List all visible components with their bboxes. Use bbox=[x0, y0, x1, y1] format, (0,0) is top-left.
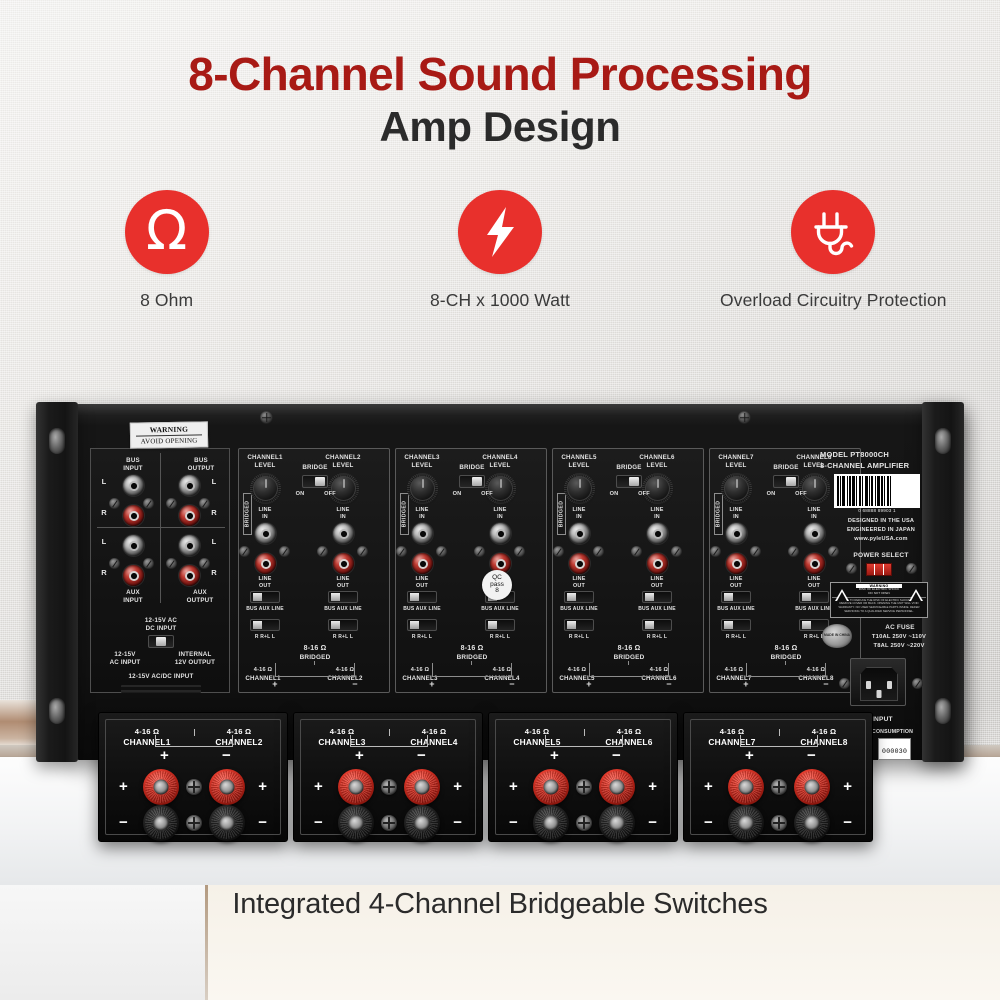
bridge-switch-3[interactable] bbox=[616, 475, 642, 488]
power-select-label: POWER SELECT bbox=[828, 552, 934, 560]
feature-label-8-ohm: 8 Ohm bbox=[140, 290, 193, 312]
line-out-jack-6[interactable] bbox=[647, 553, 668, 574]
bridge-switch-4[interactable] bbox=[773, 475, 799, 488]
caption-text: Integrated 4-Channel Bridgeable Switches bbox=[232, 888, 767, 920]
binding-post-negative-right-1[interactable] bbox=[209, 805, 245, 841]
line-out-label-7: LINE OUT bbox=[720, 576, 752, 589]
speaker-terminal-block-4: 4-16 ΩCHANNEL74-16 ΩCHANNEL8+−++−− bbox=[683, 712, 873, 842]
binding-post-positive-right-3[interactable] bbox=[599, 769, 635, 805]
lightning-bolt-icon bbox=[458, 190, 542, 274]
speaker-terminal-block-2: 4-16 ΩCHANNEL34-16 ΩCHANNEL4+−++−− bbox=[293, 712, 483, 842]
feature-item-power: 8-CH x 1000 Watt bbox=[333, 190, 666, 312]
line-in-jack-6[interactable] bbox=[647, 523, 668, 544]
binding-post-negative-left-3[interactable] bbox=[533, 805, 569, 841]
module-screw-6b bbox=[671, 546, 682, 557]
bridged-label-1: BRIDGED bbox=[285, 654, 345, 662]
binding-post-negative-right-2[interactable] bbox=[404, 805, 440, 841]
source-select-switch-1[interactable] bbox=[250, 591, 280, 603]
line-out-jack-7[interactable] bbox=[726, 553, 747, 574]
terminal-row-minus-right-2: − bbox=[453, 815, 462, 830]
feature-list: Ω 8 Ohm 8-CH x 1000 Watt Overload Circu bbox=[0, 190, 1000, 312]
bridge-switch-1[interactable] bbox=[302, 475, 328, 488]
dc-input-title: 12-15V AC DC INPUT bbox=[129, 617, 193, 632]
aux-output-right-label: R bbox=[209, 568, 219, 577]
line-in-jack-1[interactable] bbox=[255, 523, 276, 544]
serial-number: 000030 bbox=[882, 748, 907, 755]
terminal-screw-top-4 bbox=[771, 779, 787, 795]
warning-triangle-right-icon bbox=[909, 589, 923, 601]
mode-select-label-6: R R+L L bbox=[627, 634, 687, 640]
iec-pin-right bbox=[887, 681, 892, 689]
bridge-off-label-4: OFF bbox=[790, 491, 812, 498]
io-divider-horizontal bbox=[97, 527, 225, 528]
terminal-row-minus-right-4: − bbox=[843, 815, 852, 830]
origin-line-2: ENGINEERED IN JAPAN bbox=[826, 527, 936, 534]
origin-line-1: DESIGNED IN THE USA bbox=[826, 518, 936, 525]
line-in-jack-7[interactable] bbox=[726, 523, 747, 544]
channel-name-3: CHANNEL3 bbox=[394, 454, 450, 462]
bridge-plus-3: + bbox=[579, 679, 599, 690]
terminal-row-minus-2: − bbox=[314, 815, 323, 830]
line-out-label-3: LINE OUT bbox=[406, 576, 438, 589]
bridge-label-1: BRIDGE bbox=[285, 464, 345, 472]
iec-inlet-recess bbox=[860, 667, 898, 701]
channel-name-2: CHANNEL2 bbox=[315, 454, 371, 462]
mode-select-switch-2[interactable] bbox=[328, 619, 358, 631]
speaker-terminal-block-1: 4-16 ΩCHANNEL14-16 ΩCHANNEL2+−++−− bbox=[98, 712, 288, 842]
rack-hole-left-top bbox=[49, 428, 65, 454]
ac-fuse-line-2: T8AL 250V ~220V bbox=[850, 643, 948, 650]
terminal-brace-2 bbox=[350, 735, 428, 747]
bridge-on-label-3: ON bbox=[603, 491, 625, 498]
bridge-switch-2[interactable] bbox=[459, 475, 485, 488]
terminal-row-plus-4: + bbox=[704, 779, 713, 794]
iec-pin-left bbox=[866, 681, 871, 689]
bridge-off-label-2: OFF bbox=[476, 491, 498, 498]
headline-line-1: 8-Channel Sound Processing bbox=[0, 50, 1000, 100]
source-select-label-2: BUS AUX LINE bbox=[313, 606, 373, 612]
bridge-label-3: BRIDGE bbox=[599, 464, 659, 472]
barcode bbox=[834, 474, 920, 508]
mode-select-label-1: R R+L L bbox=[235, 634, 295, 640]
binding-post-negative-right-4[interactable] bbox=[794, 805, 830, 841]
terminal-screw-top-1 bbox=[186, 779, 202, 795]
module-screw-2a bbox=[317, 546, 328, 557]
mode-select-switch-5[interactable] bbox=[564, 619, 594, 631]
internal-output-label: INTERNAL 12V OUTPUT bbox=[167, 651, 223, 666]
source-select-switch-7[interactable] bbox=[721, 591, 751, 603]
power-select-screw-right bbox=[906, 563, 917, 574]
module-screw-8a bbox=[788, 546, 799, 557]
bottom-caption: Integrated 4-Channel Bridgeable Switches bbox=[0, 888, 1000, 921]
module-screw-3b bbox=[436, 546, 447, 557]
vent-grille bbox=[121, 685, 201, 693]
source-select-label-3: BUS AUX LINE bbox=[392, 606, 452, 612]
channel-module-3: BRIDGEDCHANNEL5LEVELLINE INLINE OUTBUS A… bbox=[552, 448, 704, 693]
channel-name-1: CHANNEL1 bbox=[237, 454, 293, 462]
terminal-screw-top-2 bbox=[381, 779, 397, 795]
terminal-row-minus-right-3: − bbox=[648, 815, 657, 830]
bridge-off-label-3: OFF bbox=[633, 491, 655, 498]
terminal-row-plus-1: + bbox=[119, 779, 128, 794]
line-out-jack-5[interactable] bbox=[569, 553, 590, 574]
bus-input-label: BUS INPUT bbox=[113, 457, 153, 472]
bridge-plus-4: + bbox=[736, 679, 756, 690]
terminal-row-minus-1: − bbox=[119, 815, 128, 830]
bus-output-left-jack[interactable] bbox=[179, 475, 200, 496]
line-in-label-7: LINE IN bbox=[720, 507, 752, 520]
rack-hole-left-bottom bbox=[49, 698, 65, 724]
made-in-badge: MADE IN CHINA bbox=[822, 624, 852, 648]
ac-fuse-line-1: T10AL 250V ~110V bbox=[850, 634, 948, 641]
io-screw-5 bbox=[109, 558, 120, 569]
electric-shock-warning-label: WARNING RISK OF ELECTRIC SHOCK DO NOT OP… bbox=[830, 582, 928, 618]
binding-post-positive-right-4[interactable] bbox=[794, 769, 830, 805]
acdc-input-label: 12-15V AC/DC INPUT bbox=[113, 673, 209, 681]
bridge-on-label-2: ON bbox=[446, 491, 468, 498]
channel-name-4: CHANNEL4 bbox=[472, 454, 528, 462]
module-screw-7b bbox=[750, 546, 761, 557]
terminal-row-plus-2: + bbox=[314, 779, 323, 794]
binding-post-positive-left-3[interactable] bbox=[533, 769, 569, 805]
mode-select-switch-7[interactable] bbox=[721, 619, 751, 631]
level-knob-5[interactable] bbox=[567, 476, 592, 501]
mode-select-label-4: R R+L L bbox=[470, 634, 530, 640]
source-select-label-7: BUS AUX LINE bbox=[706, 606, 766, 612]
binding-post-positive-left-4[interactable] bbox=[728, 769, 764, 805]
aux-output-left-label: L bbox=[209, 537, 219, 546]
terminal-bridge-minus-3: − bbox=[612, 748, 621, 763]
binding-post-positive-left-2[interactable] bbox=[338, 769, 374, 805]
io-divider-vertical bbox=[160, 453, 161, 603]
bus-output-label: BUS OUTPUT bbox=[179, 457, 223, 472]
module-screw-6a bbox=[631, 546, 642, 557]
aux-input-left-label: L bbox=[99, 537, 109, 546]
binding-post-negative-left-2[interactable] bbox=[338, 805, 374, 841]
amp-top-lip bbox=[76, 404, 964, 416]
bus-input-right-jack[interactable] bbox=[123, 505, 144, 526]
power-plug-icon bbox=[791, 190, 875, 274]
aux-output-label: AUX OUTPUT bbox=[177, 589, 223, 604]
terminal-brace-4 bbox=[740, 735, 818, 747]
mode-select-label-7: R R+L L bbox=[706, 634, 766, 640]
amplifier-rear-panel: BUS INPUT L R BUS OUTPUT L R L R AUX INP… bbox=[36, 404, 964, 772]
iec-screw-right bbox=[912, 678, 923, 689]
bridged-impedance-1: 8-16 Ω bbox=[285, 645, 345, 654]
model-line-2: 8-CHANNEL AMPLIFIER bbox=[820, 461, 944, 470]
bridged-impedance-3: 8-16 Ω bbox=[599, 645, 659, 654]
line-in-label-5: LINE IN bbox=[563, 507, 595, 520]
input-label: INPUT bbox=[872, 716, 932, 724]
bridged-label-4: BRIDGED bbox=[756, 654, 816, 662]
binding-post-negative-left-1[interactable] bbox=[143, 805, 179, 841]
terminal-screw-bottom-1 bbox=[186, 815, 202, 831]
speaker-terminal-block-3: 4-16 ΩCHANNEL54-16 ΩCHANNEL6+−++−− bbox=[488, 712, 678, 842]
bridge-on-label-1: ON bbox=[289, 491, 311, 498]
serial-number-box: 000030 bbox=[878, 738, 911, 760]
bus-output-left-label: L bbox=[209, 477, 219, 486]
channel-module-2: BRIDGEDCHANNEL3LEVELLINE INLINE OUTBUS A… bbox=[395, 448, 547, 693]
binding-post-negative-left-4[interactable] bbox=[728, 805, 764, 841]
terminal-bridge-plus-3: + bbox=[550, 748, 559, 763]
feature-label-power: 8-CH x 1000 Watt bbox=[430, 290, 570, 312]
bridge-minus-2: − bbox=[502, 679, 522, 690]
mode-select-switch-1[interactable] bbox=[250, 619, 280, 631]
bridge-on-label-4: ON bbox=[760, 491, 782, 498]
terminal-brace-3 bbox=[545, 735, 623, 747]
module-screw-2b bbox=[357, 546, 368, 557]
bus-output-right-jack[interactable] bbox=[179, 505, 200, 526]
mode-select-label-2: R R+L L bbox=[313, 634, 373, 640]
terminal-screw-bottom-4 bbox=[771, 815, 787, 831]
omega-glyph: Ω bbox=[146, 204, 187, 258]
bus-input-left-jack[interactable] bbox=[123, 475, 144, 496]
terminal-bridge-minus-2: − bbox=[417, 748, 426, 763]
terminal-row-minus-4: − bbox=[704, 815, 713, 830]
io-screw-6 bbox=[143, 558, 154, 569]
terminal-bridge-minus-1: − bbox=[222, 748, 231, 763]
mode-select-switch-3[interactable] bbox=[407, 619, 437, 631]
qc-line-3: 8 bbox=[495, 588, 499, 595]
bridge-brace-3 bbox=[589, 663, 669, 677]
iec-power-inlet[interactable] bbox=[850, 658, 906, 706]
mode-select-switch-4[interactable] bbox=[485, 619, 515, 631]
io-screw-3 bbox=[166, 498, 177, 509]
bridge-minus-1: − bbox=[345, 679, 365, 690]
io-screw-1 bbox=[109, 498, 120, 509]
warning-triangle-left-icon bbox=[835, 589, 849, 601]
source-select-label-6: BUS AUX LINE bbox=[627, 606, 687, 612]
terminal-bridge-plus-2: + bbox=[355, 748, 364, 763]
terminal-screw-bottom-3 bbox=[576, 815, 592, 831]
module-screw-3a bbox=[396, 546, 407, 557]
bridged-impedance-4: 8-16 Ω bbox=[756, 645, 816, 654]
source-select-switch-3[interactable] bbox=[407, 591, 437, 603]
aux-input-right-jack[interactable] bbox=[123, 565, 144, 586]
website-label: www.pyleUSA.com bbox=[826, 536, 936, 543]
channel-name-6: CHANNEL6 bbox=[629, 454, 685, 462]
bridge-plus-1: + bbox=[265, 679, 285, 690]
module-screw-4a bbox=[474, 546, 485, 557]
source-select-label-5: BUS AUX LINE bbox=[549, 606, 609, 612]
terminal-row-minus-right-1: − bbox=[258, 815, 267, 830]
bridge-off-label-1: OFF bbox=[319, 491, 341, 498]
io-screw-2 bbox=[143, 498, 154, 509]
level-knob-7[interactable] bbox=[724, 476, 749, 501]
line-in-label-3: LINE IN bbox=[406, 507, 438, 520]
iec-screw-left bbox=[839, 678, 850, 689]
headline-line-2: Amp Design bbox=[0, 103, 1000, 151]
terminal-screw-bottom-2 bbox=[381, 815, 397, 831]
power-select-screw-left bbox=[846, 563, 857, 574]
terminal-row-minus-3: − bbox=[509, 815, 518, 830]
module-screw-4b bbox=[514, 546, 525, 557]
terminal-bridge-plus-4: + bbox=[745, 748, 754, 763]
model-line-1: MODEL PT8000CH bbox=[820, 450, 940, 459]
line-in-label-4: LINE IN bbox=[484, 507, 516, 520]
module-screw-7a bbox=[710, 546, 721, 557]
mode-select-label-5: R R+L L bbox=[549, 634, 609, 640]
feature-item-8-ohm: Ω 8 Ohm bbox=[0, 190, 333, 312]
binding-post-negative-right-3[interactable] bbox=[599, 805, 635, 841]
qc-pass-sticker: QC pass 8 bbox=[482, 570, 512, 600]
product-info-block: MODEL PT8000CH 8-CHANNEL AMPLIFIER 0 688… bbox=[820, 448, 950, 748]
made-in-text: MADE IN CHINA bbox=[824, 634, 850, 638]
line-out-jack-2[interactable] bbox=[333, 553, 354, 574]
line-in-label-6: LINE IN bbox=[641, 507, 673, 520]
module-screw-5b bbox=[593, 546, 604, 557]
line-out-label-1: LINE OUT bbox=[249, 576, 281, 589]
channel-name-7: CHANNEL7 bbox=[708, 454, 764, 462]
terminal-row-plus-right-1: + bbox=[258, 779, 267, 794]
aux-output-right-jack[interactable] bbox=[179, 565, 200, 586]
bridge-label-4: BRIDGE bbox=[756, 464, 816, 472]
line-out-label-5: LINE OUT bbox=[563, 576, 595, 589]
bridge-brace-4 bbox=[746, 663, 826, 677]
line-out-jack-3[interactable] bbox=[412, 553, 433, 574]
terminal-row-plus-right-3: + bbox=[648, 779, 657, 794]
line-in-jack-5[interactable] bbox=[569, 523, 590, 544]
bridge-minus-3: − bbox=[659, 679, 679, 690]
mode-select-switch-6[interactable] bbox=[642, 619, 672, 631]
line-out-label-2: LINE OUT bbox=[327, 576, 359, 589]
feature-label-overload: Overload Circuitry Protection bbox=[720, 290, 947, 312]
aux-output-left-jack[interactable] bbox=[179, 535, 200, 556]
module-screw-5a bbox=[553, 546, 564, 557]
bridge-label-2: BRIDGE bbox=[442, 464, 502, 472]
module-screw-1b bbox=[279, 546, 290, 557]
binding-post-positive-right-2[interactable] bbox=[404, 769, 440, 805]
rear-panel-surface: BUS INPUT L R BUS OUTPUT L R L R AUX INP… bbox=[88, 420, 952, 745]
bridge-plus-2: + bbox=[422, 679, 442, 690]
line-in-jack-2[interactable] bbox=[333, 523, 354, 544]
bus-output-right-label: R bbox=[209, 508, 219, 517]
terminal-row-plus-right-4: + bbox=[843, 779, 852, 794]
bridge-brace-1 bbox=[275, 663, 355, 677]
line-in-label-1: LINE IN bbox=[249, 507, 281, 520]
warning-sticker-line-2: AVOID OPENING bbox=[141, 437, 198, 446]
channel-name-5: CHANNEL5 bbox=[551, 454, 607, 462]
source-select-switch-5[interactable] bbox=[564, 591, 594, 603]
line-in-jack-4[interactable] bbox=[490, 523, 511, 544]
mode-select-label-3: R R+L L bbox=[392, 634, 452, 640]
bridged-impedance-2: 8-16 Ω bbox=[442, 645, 502, 654]
module-screw-1a bbox=[239, 546, 250, 557]
feature-item-overload: Overload Circuitry Protection bbox=[667, 190, 1000, 312]
power-select-switch[interactable] bbox=[866, 563, 892, 576]
terminal-row-plus-right-2: + bbox=[453, 779, 462, 794]
level-knob-3[interactable] bbox=[410, 476, 435, 501]
terminal-row-plus-3: + bbox=[509, 779, 518, 794]
bridged-label-2: BRIDGED bbox=[442, 654, 502, 662]
page-title: 8-Channel Sound Processing Amp Design bbox=[0, 50, 1000, 151]
terminal-bridge-minus-4: − bbox=[807, 748, 816, 763]
source-select-label-1: BUS AUX LINE bbox=[235, 606, 295, 612]
line-in-jack-3[interactable] bbox=[412, 523, 433, 544]
aux-input-left-jack[interactable] bbox=[123, 535, 144, 556]
warning-sticker-line-1: WARNING bbox=[150, 425, 189, 435]
binding-post-positive-right-1[interactable] bbox=[209, 769, 245, 805]
ac-input-label: 12-15V AC INPUT bbox=[101, 651, 149, 666]
io-screw-7 bbox=[166, 558, 177, 569]
line-out-jack-1[interactable] bbox=[255, 553, 276, 574]
io-connector-block: BUS INPUT L R BUS OUTPUT L R L R AUX INP… bbox=[90, 448, 230, 693]
binding-post-positive-left-1[interactable] bbox=[143, 769, 179, 805]
bridged-label-3: BRIDGED bbox=[599, 654, 659, 662]
source-select-switch-6[interactable] bbox=[642, 591, 672, 603]
barcode-number: 0 68888 89903 1 bbox=[828, 508, 926, 514]
aux-input-right-label: R bbox=[99, 568, 109, 577]
bus-input-left-label: L bbox=[99, 477, 109, 486]
iec-pin-ground bbox=[877, 690, 882, 698]
source-select-label-4: BUS AUX LINE bbox=[470, 606, 530, 612]
line-in-label-2: LINE IN bbox=[327, 507, 359, 520]
source-select-switch-2[interactable] bbox=[328, 591, 358, 603]
avoid-opening-sticker: WARNING AVOID OPENING bbox=[130, 421, 208, 448]
aux-input-label: AUX INPUT bbox=[113, 589, 153, 604]
channel-module-1: BRIDGEDCHANNEL1LEVELLINE INLINE OUTBUS A… bbox=[238, 448, 390, 693]
level-knob-1[interactable] bbox=[253, 476, 278, 501]
consumption-label: CONSUMPTION bbox=[872, 729, 942, 735]
bridge-brace-2 bbox=[432, 663, 512, 677]
dc-input-switch[interactable] bbox=[148, 635, 174, 648]
terminal-brace-1 bbox=[155, 735, 233, 747]
bus-input-right-label: R bbox=[99, 508, 109, 517]
terminal-screw-top-3 bbox=[576, 779, 592, 795]
omega-icon: Ω bbox=[125, 190, 209, 274]
line-out-label-6: LINE OUT bbox=[641, 576, 673, 589]
ac-fuse-title: AC FUSE bbox=[854, 624, 946, 632]
terminal-bridge-plus-1: + bbox=[160, 748, 169, 763]
rack-ear-left bbox=[36, 402, 78, 762]
